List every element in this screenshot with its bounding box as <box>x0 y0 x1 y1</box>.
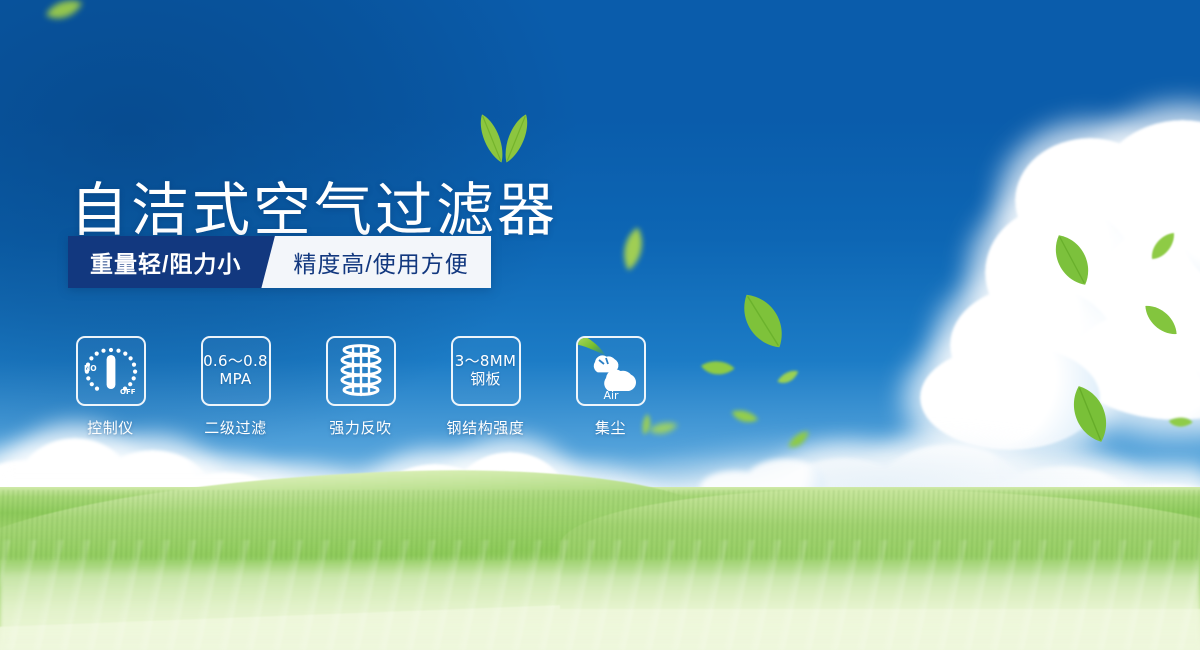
product-banner: 自洁式空气过滤器 重量轻/阻力小 精度高/使用方便 <box>0 0 1200 650</box>
gauge-off-label: OFF <box>120 388 136 396</box>
banner-content: 自洁式空气过滤器 重量轻/阻力小 精度高/使用方便 <box>0 0 1200 650</box>
feature-tile: Air <box>576 336 646 406</box>
feature-tile: NO OFF <box>76 336 146 406</box>
steel-plate-text-icon: 3～8MM 钢板 <box>455 353 516 388</box>
feature-tile: 0.6～0.8 MPA <box>201 336 271 406</box>
tile-text-line2: 钢板 <box>455 371 516 389</box>
feature-item-steel-strength[interactable]: 3～8MM 钢板 钢结构强度 <box>448 336 523 438</box>
feature-item-two-stage-filter[interactable]: 0.6～0.8 MPA 二级过滤 <box>198 336 273 438</box>
feature-tile <box>326 336 396 406</box>
subtitle-secondary: 精度高/使用方便 <box>287 236 490 288</box>
feature-item-reverse-blow[interactable]: 强力反吹 <box>323 336 398 438</box>
page-title: 自洁式空气过滤器 <box>70 181 558 239</box>
control-gauge-icon: NO OFF <box>80 343 142 399</box>
sprout-leaves-icon <box>468 110 538 170</box>
feature-label: 控制仪 <box>87 417 134 438</box>
feature-item-control-instrument[interactable]: NO OFF 控制仪 <box>73 336 148 438</box>
air-label: Air <box>603 389 619 402</box>
air-cloud-icon: Air <box>578 338 644 404</box>
tile-text-line1: 0.6～0.8 <box>203 352 268 370</box>
gauge-no-label: NO <box>84 364 97 373</box>
feature-label: 二级过滤 <box>204 417 266 438</box>
subtitle-bar: 重量轻/阻力小 精度高/使用方便 <box>68 236 491 288</box>
subtitle-divider-wedge <box>261 236 287 288</box>
pressure-text-icon: 0.6～0.8 MPA <box>203 353 268 388</box>
subtitle-primary: 重量轻/阻力小 <box>68 236 261 288</box>
feature-label: 集尘 <box>595 417 626 438</box>
feature-item-dust-collection[interactable]: Air 集尘 <box>573 336 648 438</box>
feature-tile: 3～8MM 钢板 <box>451 336 521 406</box>
feature-label: 钢结构强度 <box>447 417 525 438</box>
feature-label: 强力反吹 <box>329 417 391 438</box>
tile-text-line1: 3～8MM <box>455 352 516 370</box>
feature-list: NO OFF 控制仪 0.6～0.8 MPA 二级过滤 <box>73 336 648 438</box>
filter-cartridge-icon <box>334 343 388 399</box>
tile-text-line2: MPA <box>203 371 268 389</box>
